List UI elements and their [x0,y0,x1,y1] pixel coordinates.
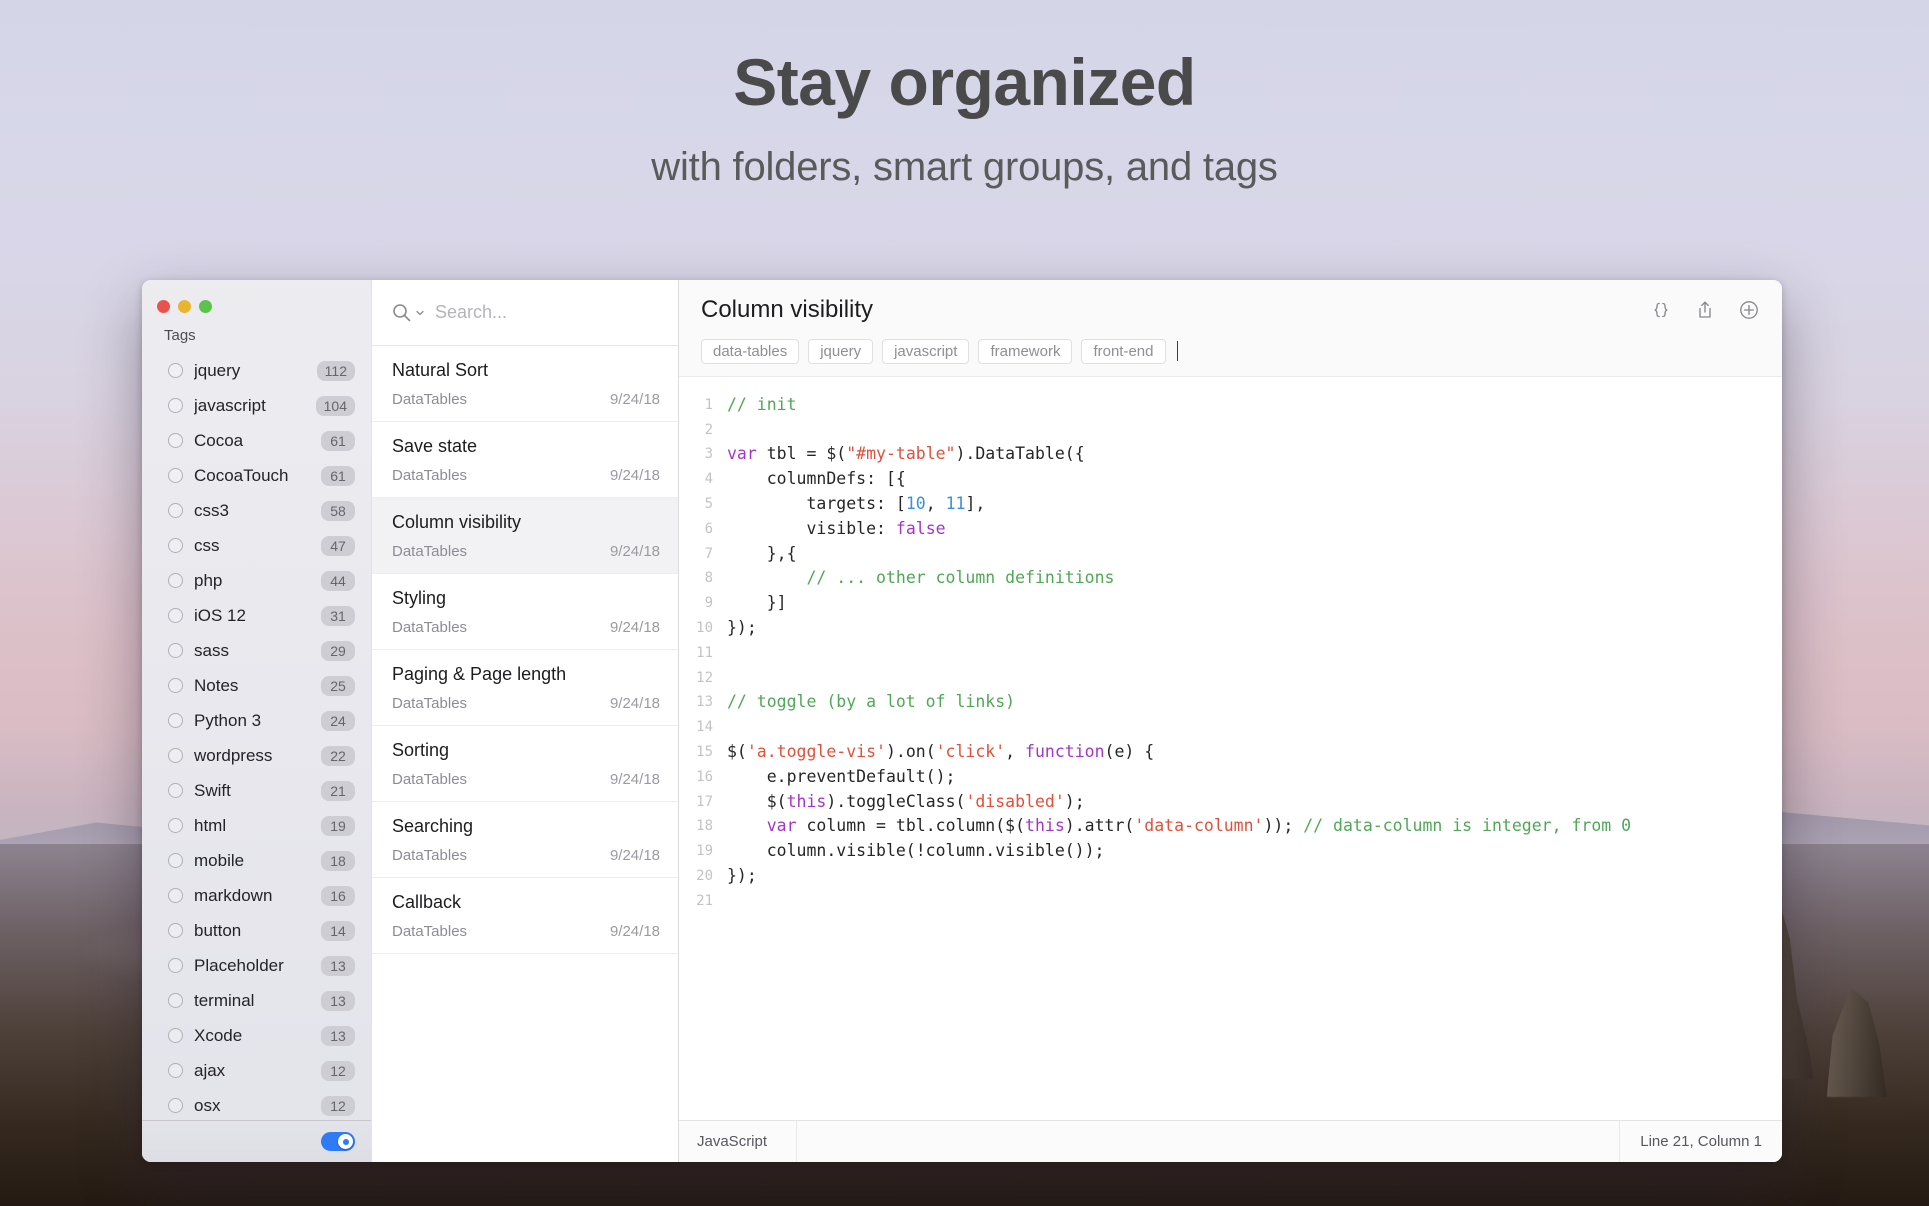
code-text: // toggle (by a lot of links) [727,690,1782,715]
document-tag-chip[interactable]: front-end [1081,339,1165,364]
tag-label: CocoaTouch [194,466,310,486]
tag-count-badge: 44 [321,571,355,591]
tag-radio[interactable] [168,958,183,973]
tag-list-item[interactable]: html19 [142,808,371,843]
tag-radio[interactable] [168,818,183,833]
code-text [727,418,1782,443]
note-title: Sorting [392,740,660,761]
code-text: var column = tbl.column($(this).attr('da… [727,814,1782,839]
tag-label: ajax [194,1061,310,1081]
note-title: Save state [392,436,660,457]
code-token: column.visible(!column.visible()); [727,841,1105,860]
sidebar-section-title: Tags [142,318,371,351]
tag-radio[interactable] [168,923,183,938]
line-number: 2 [679,418,727,443]
tag-list-item[interactable]: javascript104 [142,388,371,423]
note-list-item[interactable]: Paging & Page lengthDataTables9/24/18 [372,650,678,726]
tag-list-item[interactable]: osx12 [142,1088,371,1120]
code-line: 19 column.visible(!column.visible()); [679,839,1782,864]
code-token: // ... other column definitions [806,568,1114,587]
tag-list-item[interactable]: iOS 1231 [142,598,371,633]
tag-list-item[interactable]: css47 [142,528,371,563]
tag-input-caret [1177,341,1179,361]
code-token: "#my-table" [846,444,955,463]
status-bar: JavaScript Line 21, Column 1 [679,1120,1782,1162]
tag-label: terminal [194,991,310,1011]
code-text: }); [727,616,1782,641]
code-text: $(this).toggleClass('disabled'); [727,790,1782,815]
code-line: 3var tbl = $("#my-table").DataTable({ [679,442,1782,467]
code-text [727,889,1782,914]
note-source: DataTables [392,543,467,560]
line-number: 21 [679,889,727,914]
editor-header: Column visibility [679,280,1782,377]
line-number: 8 [679,566,727,591]
tag-count-badge: 24 [321,711,355,731]
code-token: 'disabled' [965,792,1064,811]
tag-radio[interactable] [168,888,183,903]
code-token: (e) { [1105,742,1155,761]
plus-circle-icon[interactable] [1738,299,1760,321]
code-line: 10}); [679,616,1782,641]
code-token: e.preventDefault(); [727,767,955,786]
note-date: 9/24/18 [610,847,660,864]
tag-label: iOS 12 [194,606,310,626]
tag-label: php [194,571,310,591]
note-title: Paging & Page length [392,664,660,685]
code-token: , [926,494,946,513]
document-tag-chip[interactable]: framework [978,339,1072,364]
code-text: },{ [727,542,1782,567]
chevron-down-icon [415,308,425,318]
tag-label: Cocoa [194,431,310,451]
tag-count-badge: 19 [321,816,355,836]
code-line: 21 [679,889,1782,914]
minimize-button[interactable] [178,300,191,313]
tag-radio[interactable] [168,1063,183,1078]
tag-count-badge: 58 [321,501,355,521]
page-title: Stay organized [0,48,1929,117]
note-source: DataTables [392,467,467,484]
code-token: false [896,519,946,538]
close-button[interactable] [157,300,170,313]
sidebar-toggle-switch[interactable] [321,1132,355,1151]
tag-list[interactable]: jquery112javascript104Cocoa61CocoaTouch6… [142,351,371,1120]
note-list-item[interactable]: SortingDataTables9/24/18 [372,726,678,802]
code-token: targets: [ [727,494,906,513]
braces-icon[interactable] [1650,299,1672,321]
editor-toolbar [1650,296,1760,321]
page-subtitle: with folders, smart groups, and tags [0,145,1929,190]
code-token: var [727,444,757,463]
line-number: 19 [679,839,727,864]
tag-list-item[interactable]: Notes25 [142,668,371,703]
tag-list-item[interactable]: terminal13 [142,983,371,1018]
magnifier-icon [392,303,411,322]
code-token: // toggle (by a lot of links) [727,692,1015,711]
document-tag-chip[interactable]: javascript [882,339,969,364]
tag-radio[interactable] [168,713,183,728]
tag-list-item[interactable]: wordpress22 [142,738,371,773]
code-token: 'click' [936,742,1006,761]
note-title: Natural Sort [392,360,660,381]
note-list-item[interactable]: Save stateDataTables9/24/18 [372,422,678,498]
tag-list-item[interactable]: Placeholder13 [142,948,371,983]
braces-glyph [1650,299,1672,321]
note-date: 9/24/18 [610,695,660,712]
tag-label: javascript [194,396,305,416]
tag-radio[interactable] [168,1028,183,1043]
tag-list-item[interactable]: markdown16 [142,878,371,913]
tag-count-badge: 29 [321,641,355,661]
tag-radio[interactable] [168,748,183,763]
code-token: ).toggleClass( [826,792,965,811]
tag-label: Python 3 [194,711,310,731]
tag-count-badge: 21 [321,781,355,801]
tag-count-badge: 112 [317,361,355,381]
code-token: }] [727,593,787,612]
status-cursor-position: Line 21, Column 1 [1620,1133,1782,1150]
code-line: 20}); [679,864,1782,889]
note-list-item[interactable]: Column visibilityDataTables9/24/18 [372,498,678,574]
code-line: 13// toggle (by a lot of links) [679,690,1782,715]
sidebar: Tags jquery112javascript104Cocoa61CocoaT… [142,280,371,1162]
code-text: visible: false [727,517,1782,542]
tag-label: html [194,816,310,836]
search-icon[interactable] [392,303,425,322]
code-token [727,816,767,835]
tag-radio[interactable] [168,468,183,483]
code-token: // data-column is integer, from 0 [1303,816,1631,835]
tag-label: Placeholder [194,956,310,976]
code-token [727,568,806,587]
tag-radio[interactable] [168,783,183,798]
toggle-knob [338,1134,353,1149]
document-tag-bar[interactable]: data-tablesjqueryjavascriptframeworkfron… [701,325,1760,376]
tag-radio[interactable] [168,503,183,518]
note-list[interactable]: Natural SortDataTables9/24/18Save stateD… [372,346,678,1162]
code-token: }); [727,618,757,637]
window-controls [142,280,371,318]
tag-radio[interactable] [168,573,183,588]
tag-count-badge: 47 [321,536,355,556]
tag-label: mobile [194,851,310,871]
tag-count-badge: 25 [321,676,355,696]
tag-label: jquery [194,361,306,381]
tag-count-badge: 13 [321,1026,355,1046]
code-token: },{ [727,544,797,563]
code-token: , [1005,742,1025,761]
note-list-item[interactable]: CallbackDataTables9/24/18 [372,878,678,954]
tag-count-badge: 61 [321,466,355,486]
note-date: 9/24/18 [610,467,660,484]
line-number: 17 [679,790,727,815]
tag-label: Xcode [194,1026,310,1046]
line-number: 12 [679,666,727,691]
tag-radio[interactable] [168,678,183,693]
code-line: 5 targets: [10, 11], [679,492,1782,517]
code-line: 18 var column = tbl.column($(this).attr(… [679,814,1782,839]
code-token: 'data-column' [1134,816,1263,835]
tag-list-item[interactable]: sass29 [142,633,371,668]
code-text [727,715,1782,740]
code-line: 2 [679,418,1782,443]
tag-label: css3 [194,501,310,521]
tag-count-badge: 22 [321,746,355,766]
tag-list-item[interactable]: mobile18 [142,843,371,878]
line-number: 5 [679,492,727,517]
tag-count-badge: 13 [321,956,355,976]
code-token: function [1025,742,1104,761]
tag-count-badge: 13 [321,991,355,1011]
code-token: 'a.toggle-vis' [747,742,886,761]
code-token: visible: [727,519,896,538]
line-number: 1 [679,393,727,418]
line-number: 20 [679,864,727,889]
code-token: $( [727,792,787,811]
line-number: 4 [679,467,727,492]
share-glyph [1694,299,1716,321]
tag-label: button [194,921,310,941]
code-line: 17 $(this).toggleClass('disabled'); [679,790,1782,815]
note-title: Styling [392,588,660,609]
code-line: 6 visible: false [679,517,1782,542]
code-token: this [787,792,827,811]
line-number: 9 [679,591,727,616]
code-line: 1// init [679,393,1782,418]
document-tag-chip[interactable]: data-tables [701,339,799,364]
code-token: 10 [906,494,926,513]
tag-radio[interactable] [168,433,183,448]
code-text: }); [727,864,1782,889]
note-source: DataTables [392,391,467,408]
note-source: DataTables [392,771,467,788]
code-line: 4 columnDefs: [{ [679,467,1782,492]
tag-radio[interactable] [168,643,183,658]
share-icon[interactable] [1694,299,1716,321]
code-text: // init [727,393,1782,418]
code-line: 15$('a.toggle-vis').on('click', function… [679,740,1782,765]
tag-list-item[interactable]: button14 [142,913,371,948]
tag-label: wordpress [194,746,310,766]
status-language[interactable]: JavaScript [679,1121,797,1163]
line-number: 15 [679,740,727,765]
editor-pane: Column visibility [679,280,1782,1162]
line-number: 3 [679,442,727,467]
sidebar-footer [142,1120,371,1162]
note-date: 9/24/18 [610,771,660,788]
tag-radio[interactable] [168,608,183,623]
tag-count-badge: 14 [321,921,355,941]
code-token: )); [1263,816,1303,835]
line-number: 13 [679,690,727,715]
code-line: 12 [679,666,1782,691]
code-token: var [767,816,797,835]
code-token: ).attr( [1065,816,1135,835]
line-number: 14 [679,715,727,740]
note-list-item[interactable]: StylingDataTables9/24/18 [372,574,678,650]
note-source: DataTables [392,847,467,864]
code-token: $( [727,742,747,761]
tag-label: markdown [194,886,310,906]
code-line: 14 [679,715,1782,740]
tag-label: sass [194,641,310,661]
tag-count-badge: 16 [321,886,355,906]
tag-count-badge: 18 [321,851,355,871]
line-number: 16 [679,765,727,790]
code-token: ).on( [886,742,936,761]
note-date: 9/24/18 [610,543,660,560]
code-token: ).DataTable({ [956,444,1085,463]
tag-list-item[interactable]: ajax12 [142,1053,371,1088]
code-text: // ... other column definitions [727,566,1782,591]
tag-count-badge: 12 [321,1096,355,1116]
document-tag-chip[interactable]: jquery [808,339,873,364]
line-number: 18 [679,814,727,839]
code-text [727,666,1782,691]
note-date: 9/24/18 [610,391,660,408]
search-input[interactable] [435,302,667,323]
note-title: Searching [392,816,660,837]
code-token: // init [727,395,797,414]
tag-count-badge: 61 [321,431,355,451]
tag-label: Notes [194,676,310,696]
tag-radio[interactable] [168,538,183,553]
tag-count-badge: 12 [321,1061,355,1081]
code-token: this [1025,816,1065,835]
plus-circle-glyph [1738,299,1760,321]
line-number: 6 [679,517,727,542]
tag-label: Swift [194,781,310,801]
code-text: $('a.toggle-vis').on('click', function(e… [727,740,1782,765]
tag-radio[interactable] [168,398,183,413]
tag-radio[interactable] [168,853,183,868]
tag-radio[interactable] [168,363,183,378]
hero-text-block: Stay organized with folders, smart group… [0,48,1929,190]
tag-list-item[interactable]: Python 324 [142,703,371,738]
code-token: tbl = $( [757,444,846,463]
note-list-item[interactable]: Natural SortDataTables9/24/18 [372,346,678,422]
document-title: Column visibility [701,296,1650,325]
note-date: 9/24/18 [610,923,660,940]
tag-list-item[interactable]: Swift21 [142,773,371,808]
tag-list-item[interactable]: Xcode13 [142,1018,371,1053]
tag-radio[interactable] [168,1098,183,1113]
note-date: 9/24/18 [610,619,660,636]
code-token: column = tbl.column($( [797,816,1025,835]
note-list-pane: Natural SortDataTables9/24/18Save stateD… [371,280,679,1162]
app-window: Tags jquery112javascript104Cocoa61CocoaT… [142,280,1782,1162]
tag-count-badge: 104 [316,396,355,416]
tag-label: css [194,536,310,556]
note-source: DataTables [392,619,467,636]
note-source: DataTables [392,923,467,940]
code-text [727,641,1782,666]
code-line: 16 e.preventDefault(); [679,765,1782,790]
tag-list-item[interactable]: CocoaTouch61 [142,458,371,493]
code-text: columnDefs: [{ [727,467,1782,492]
note-title: Callback [392,892,660,913]
code-line: 11 [679,641,1782,666]
line-number: 7 [679,542,727,567]
line-number: 10 [679,616,727,641]
code-text: var tbl = $("#my-table").DataTable({ [727,442,1782,467]
zoom-button[interactable] [199,300,212,313]
code-text: targets: [10, 11], [727,492,1782,517]
tag-list-item[interactable]: Cocoa61 [142,423,371,458]
tag-list-item[interactable]: css358 [142,493,371,528]
code-line: 7 },{ [679,542,1782,567]
code-token: ], [965,494,985,513]
code-token: 11 [946,494,966,513]
code-token: ); [1065,792,1085,811]
code-text: e.preventDefault(); [727,765,1782,790]
status-spacer [797,1121,1620,1162]
tag-count-badge: 31 [321,606,355,626]
code-text: }] [727,591,1782,616]
note-list-item[interactable]: SearchingDataTables9/24/18 [372,802,678,878]
code-token: columnDefs: [{ [727,469,906,488]
tag-label: osx [194,1096,310,1116]
note-title: Column visibility [392,512,660,533]
search-bar [372,280,678,346]
tag-radio[interactable] [168,993,183,1008]
tag-list-item[interactable]: php44 [142,563,371,598]
code-editor[interactable]: 1// init2 3var tbl = $("#my-table").Data… [679,377,1782,1120]
code-text: column.visible(!column.visible()); [727,839,1782,864]
tag-list-item[interactable]: jquery112 [142,353,371,388]
code-line: 9 }] [679,591,1782,616]
line-number: 11 [679,641,727,666]
note-source: DataTables [392,695,467,712]
code-line: 8 // ... other column definitions [679,566,1782,591]
code-token: }); [727,866,757,885]
